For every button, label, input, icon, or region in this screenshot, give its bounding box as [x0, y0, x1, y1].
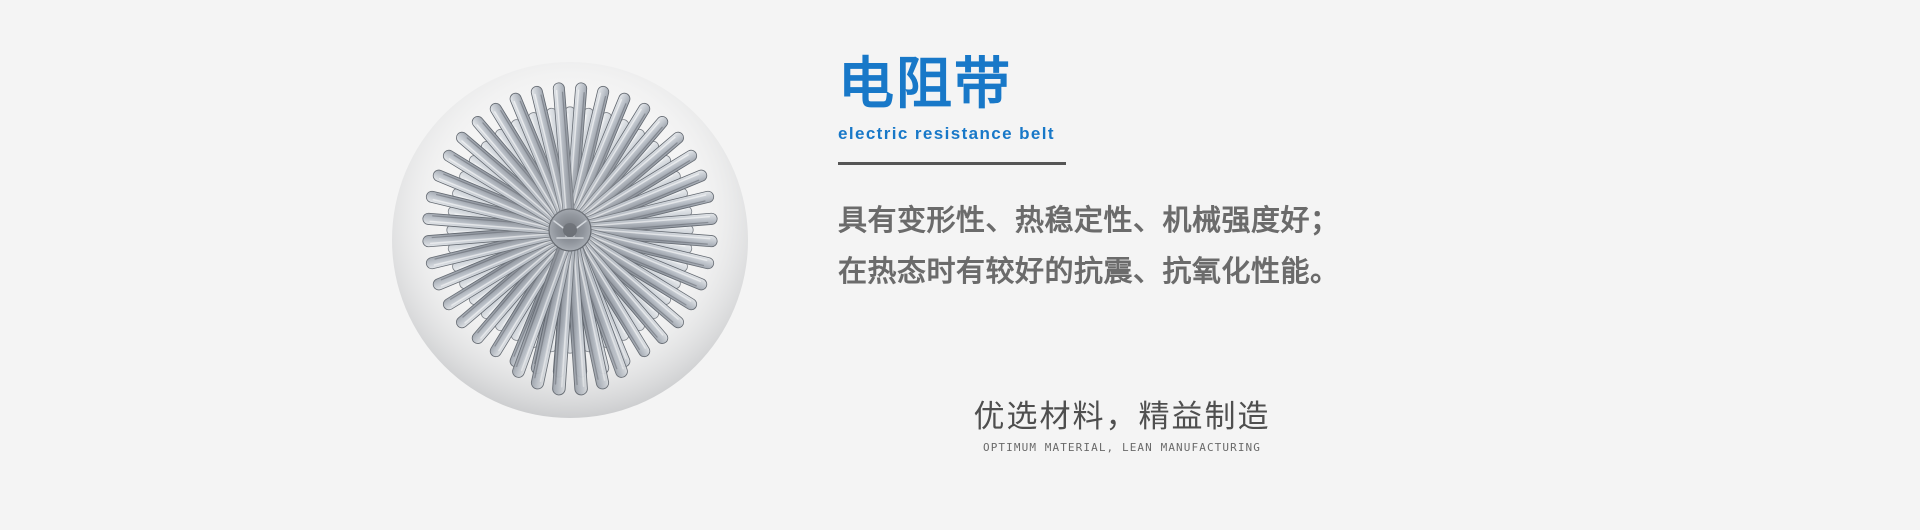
- text-column: 电阻带 electric resistance belt 具有变形性、热稳定性、…: [838, 52, 1538, 297]
- page-title: 电阻带: [838, 52, 1538, 118]
- slogan-english: OPTIMUM MATERIAL, LEAN MANUFACTURING: [952, 441, 1292, 455]
- description-line-2: 在热态时有较好的抗震、抗氧化性能。: [838, 246, 1538, 297]
- product-banner: 电阻带 electric resistance belt 具有变形性、热稳定性、…: [0, 0, 1920, 530]
- product-image: [355, 45, 785, 465]
- slogan-block: 优选材料，精益制造 OPTIMUM MATERIAL, LEAN MANUFAC…: [952, 398, 1292, 455]
- slogan-chinese: 优选材料，精益制造: [952, 398, 1292, 436]
- product-description: 具有变形性、热稳定性、机械强度好； 在热态时有较好的抗震、抗氧化性能。: [838, 195, 1538, 297]
- description-line-1: 具有变形性、热稳定性、机械强度好；: [838, 195, 1538, 246]
- divider: [838, 162, 1066, 165]
- page-subtitle: electric resistance belt: [838, 124, 1538, 144]
